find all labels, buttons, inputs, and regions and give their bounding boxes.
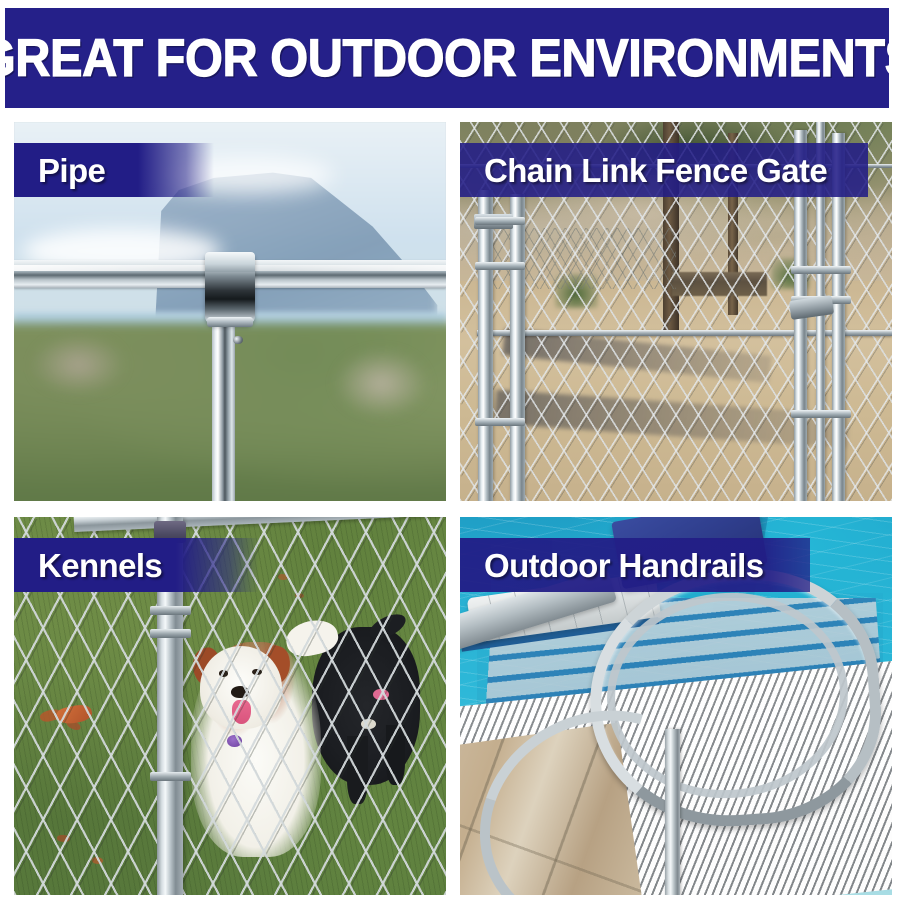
fence-post-a [478, 190, 493, 501]
fence-band-3 [475, 418, 525, 426]
fence-band-4 [791, 266, 851, 274]
vertical-pipe-post [212, 319, 235, 501]
rock-outcrop-left [31, 334, 126, 395]
caption-band-outdoor-handrails: Outdoor Handrails [460, 538, 810, 592]
caption-label-kennels: Kennels [38, 549, 162, 582]
handrail-support-post [665, 729, 680, 895]
pipe-fitting-cap [205, 252, 255, 272]
caption-label-chain-link-fence-gate: Chain Link Fence Gate [484, 154, 827, 187]
pipe-collar [207, 317, 253, 327]
header-banner: GREAT FOR OUTDOOR ENVIRONMENTS [5, 8, 889, 108]
panel-pipe[interactable]: Pipe [14, 122, 446, 501]
kennel-tie-1 [150, 606, 191, 615]
fence-mid-rail [477, 330, 892, 336]
fence-post-b [510, 194, 525, 501]
caption-band-pipe: Pipe [14, 143, 214, 197]
fence-band-1 [475, 217, 525, 225]
fence-band-2 [475, 262, 525, 270]
set-screw-icon [233, 336, 242, 344]
caption-band-kennels: Kennels [14, 538, 259, 592]
kennel-tie-3 [150, 772, 191, 781]
panel-chain-link-fence-gate[interactable]: Chain Link Fence Gate [460, 122, 892, 501]
caption-label-outdoor-handrails: Outdoor Handrails [484, 549, 764, 582]
panel-kennels[interactable]: Kennels [14, 517, 446, 895]
caption-band-chain-link-fence-gate: Chain Link Fence Gate [460, 143, 868, 197]
panel-outdoor-handrails[interactable]: Outdoor Handrails [460, 517, 892, 895]
fence-band-6 [791, 410, 851, 418]
feature-grid: Pipe [14, 122, 889, 893]
page-title: GREAT FOR OUTDOOR ENVIRONMENTS [5, 32, 889, 85]
rock-outcrop-right [334, 349, 429, 417]
infographic-page: GREAT FOR OUTDOOR ENVIRONMENTS [0, 0, 901, 901]
kennel-tie-2 [150, 629, 191, 638]
caption-label-pipe: Pipe [38, 154, 105, 187]
